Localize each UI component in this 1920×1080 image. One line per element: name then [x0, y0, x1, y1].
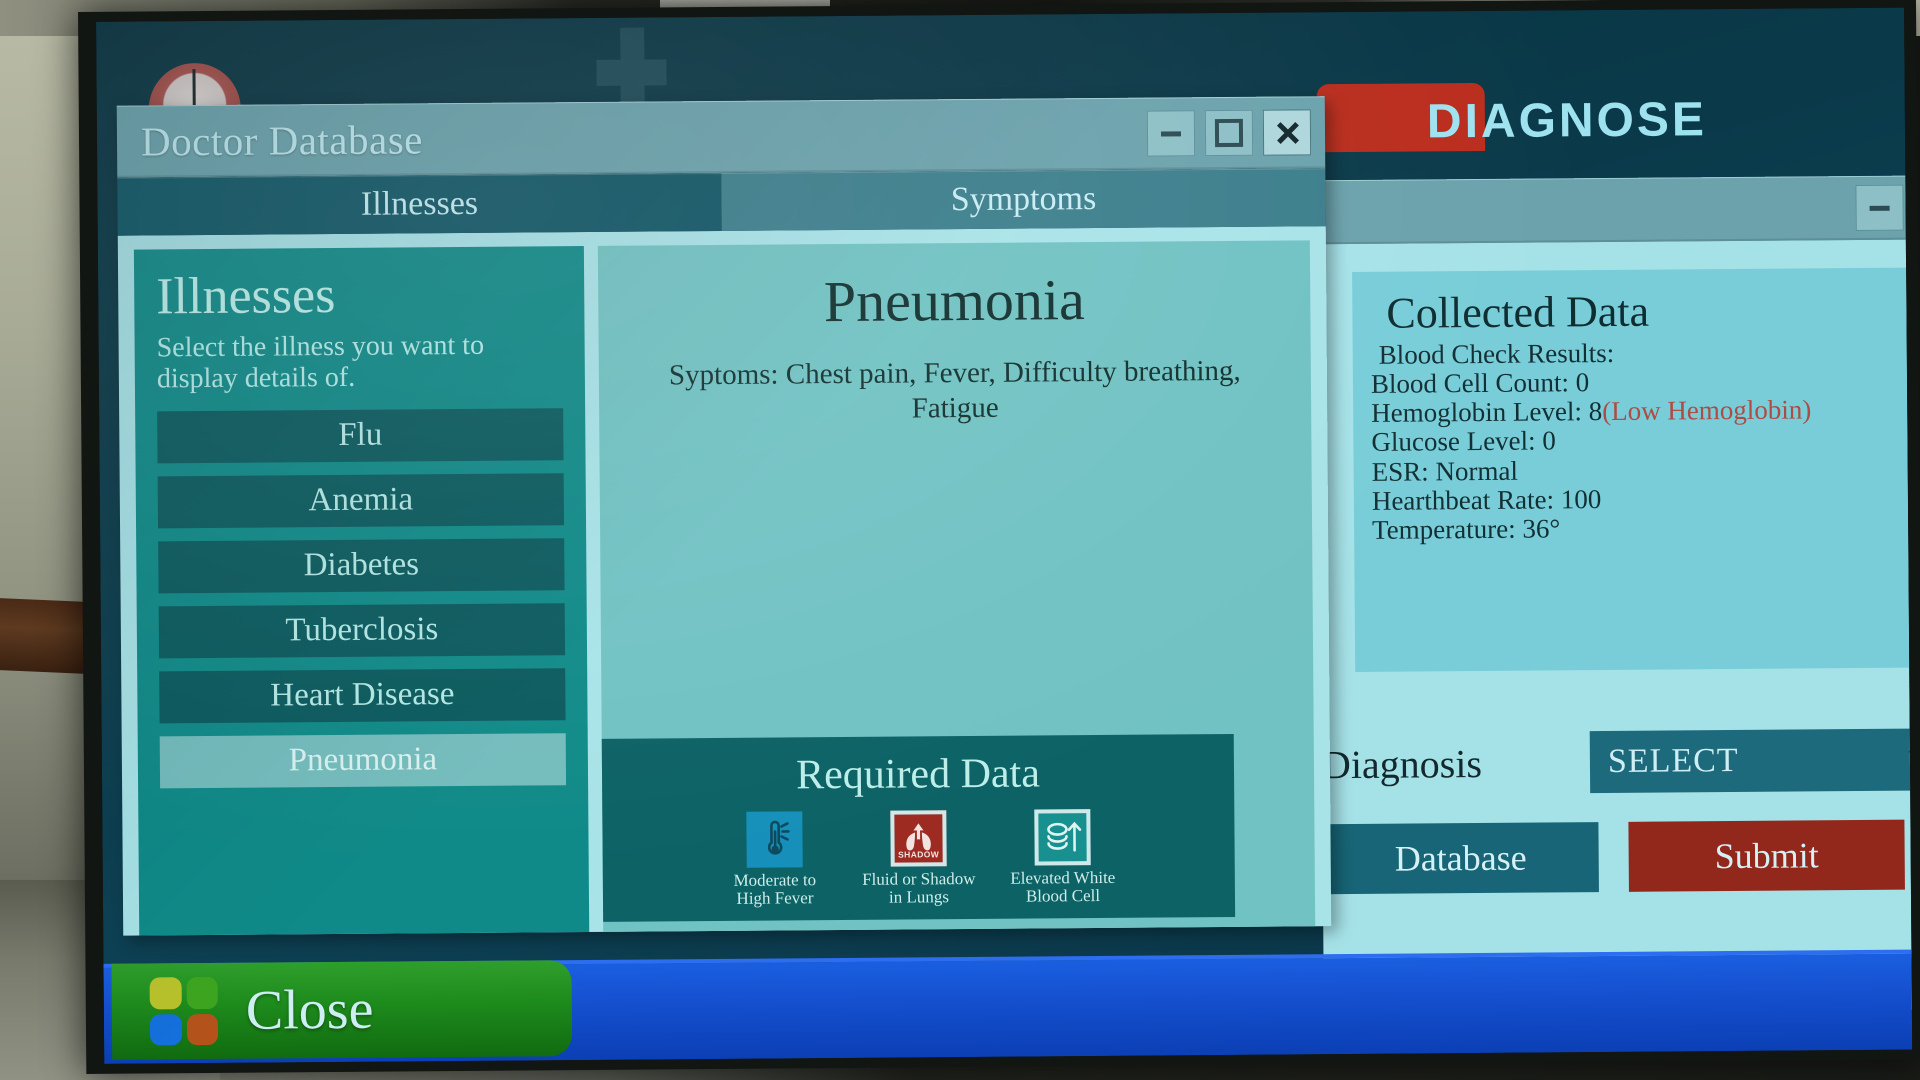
diagnose-title: DIAGNOSE — [1427, 92, 1707, 149]
database-button[interactable]: Database — [1322, 822, 1599, 894]
close-icon[interactable] — [1263, 109, 1311, 155]
illness-list-panel: Illnesses Select the illness you want to… — [134, 246, 589, 936]
illness-panel-instruction: Select the illness you want to display d… — [157, 329, 563, 395]
sidebar-item-anemia[interactable]: Anemia — [158, 473, 564, 528]
illness-detail-panel: Pneumonia Syptoms: Chest pain, Fever, Di… — [598, 240, 1315, 932]
sidebar-item-heart-disease[interactable]: Heart Disease — [159, 668, 565, 723]
game-desktop: DIAGNOSE Collected Data Blood Check Resu… — [96, 8, 1912, 1064]
white-blood-cell-up-icon — [1034, 809, 1090, 865]
tab-symptoms[interactable]: Symptoms — [721, 168, 1325, 231]
collected-data-heading: Collected Data — [1352, 267, 1912, 341]
status-badge: (Low Hemoglobin) — [1602, 395, 1811, 427]
sidebar-item-pneumonia[interactable]: Pneumonia — [160, 733, 566, 788]
thermometer-icon — [746, 812, 802, 868]
diagnose-titlebar[interactable] — [1317, 175, 1912, 245]
collected-data-row: Glucose Level: 0 — [1353, 424, 1912, 458]
required-data-caption: Fluid or Shadow in Lungs — [859, 870, 979, 906]
submit-button[interactable]: Submit — [1628, 820, 1905, 892]
collected-data-text: ESR: Normal — [1372, 455, 1518, 486]
wall-shelf — [0, 598, 92, 674]
diagnose-header: DIAGNOSE — [1427, 77, 1913, 162]
collected-data-row: Hearthbeat Rate: 100 — [1354, 482, 1912, 516]
collected-data-row: Temperature: 36° — [1354, 511, 1912, 545]
collected-data-text: Blood Check Results: — [1379, 338, 1615, 370]
doctor-database-body: Illnesses Select the illness you want to… — [118, 226, 1331, 935]
collected-data-text: Hemoglobin Level: 8 — [1371, 396, 1602, 428]
diagnose-window: DIAGNOSE Collected Data Blood Check Resu… — [1317, 67, 1913, 953]
sidebar-item-tuberclosis[interactable]: Tuberclosis — [159, 603, 565, 658]
minimize-icon[interactable] — [1855, 185, 1903, 231]
minimize-icon[interactable] — [1147, 110, 1195, 156]
required-data-caption: Elevated White Blood Cell — [1003, 869, 1123, 905]
collected-data-row: Blood Cell Count: 0 — [1353, 365, 1912, 399]
lungs-shadow-icon: SHADOW — [890, 811, 946, 867]
diagnose-body: Collected Data Blood Check Results: Bloo… — [1318, 239, 1912, 1015]
collected-data-text: Temperature: 36° — [1372, 513, 1560, 544]
diagnosis-label: Diagnosis — [1322, 739, 1590, 788]
diagnose-actions: Database Submit — [1322, 819, 1912, 905]
required-data-items: Moderate to High Fever — [602, 808, 1235, 908]
diagnose-window-buttons — [1855, 184, 1912, 231]
tab-illnesses[interactable]: Illnesses — [117, 173, 721, 236]
required-data-panel: Required Data — [602, 734, 1235, 922]
collected-data-panel: Collected Data Blood Check Results: Bloo… — [1352, 267, 1912, 672]
collected-data-row: ESR: Normal — [1354, 453, 1913, 487]
diagnosis-select[interactable]: SELECT — [1590, 728, 1913, 793]
required-data-heading: Required Data — [602, 748, 1234, 801]
required-data-item: Moderate to High Fever — [714, 811, 835, 907]
doctor-database-window: Doctor Database Illnesses Symptoms Illne… — [117, 96, 1331, 935]
doctor-database-window-buttons — [1147, 109, 1325, 156]
illness-detail-title: Pneumonia — [824, 266, 1086, 335]
close-start-button[interactable]: Close — [111, 960, 572, 1060]
sidebar-item-flu[interactable]: Flu — [157, 408, 563, 463]
monitor-bezel: DIAGNOSE Collected Data Blood Check Resu… — [78, 0, 1920, 1074]
chevron-down-icon — [1908, 729, 1912, 773]
taskbar: Close — [103, 950, 1912, 1064]
collected-data-text: Blood Cell Count: 0 — [1371, 367, 1590, 399]
diagnosis-row: Diagnosis SELECT — [1322, 719, 1913, 805]
illness-panel-heading: Illnesses — [156, 264, 562, 326]
required-data-item: Elevated White Blood Cell — [1002, 809, 1123, 905]
doctor-database-tabs: Illnesses Symptoms — [117, 168, 1325, 235]
collected-data-row: Blood Check Results: — [1353, 336, 1913, 370]
maximize-icon[interactable] — [1205, 110, 1253, 156]
sidebar-item-diabetes[interactable]: Diabetes — [158, 538, 564, 593]
diagnosis-select-value: SELECT — [1608, 742, 1739, 781]
four-square-windows-logo-icon — [150, 977, 219, 1046]
required-data-item: SHADOW Fluid or Shadow in Lungs — [858, 810, 979, 906]
required-data-caption: Moderate to High Fever — [715, 871, 835, 907]
illness-detail-symptoms: Syptoms: Chest pain, Fever, Difficulty b… — [665, 354, 1246, 428]
svg-text:SHADOW: SHADOW — [898, 850, 940, 860]
collected-data-text: Hearthbeat Rate: 100 — [1372, 484, 1602, 516]
collected-data-row: Hemoglobin Level: 8(Low Hemoglobin) — [1353, 395, 1912, 429]
close-button-label: Close — [246, 978, 374, 1043]
collected-data-text: Glucose Level: 0 — [1371, 426, 1556, 457]
page-title: Doctor Database — [117, 115, 423, 165]
monitor-screen: DIAGNOSE Collected Data Blood Check Resu… — [96, 8, 1912, 1064]
doctor-database-titlebar[interactable]: Doctor Database — [117, 96, 1326, 177]
